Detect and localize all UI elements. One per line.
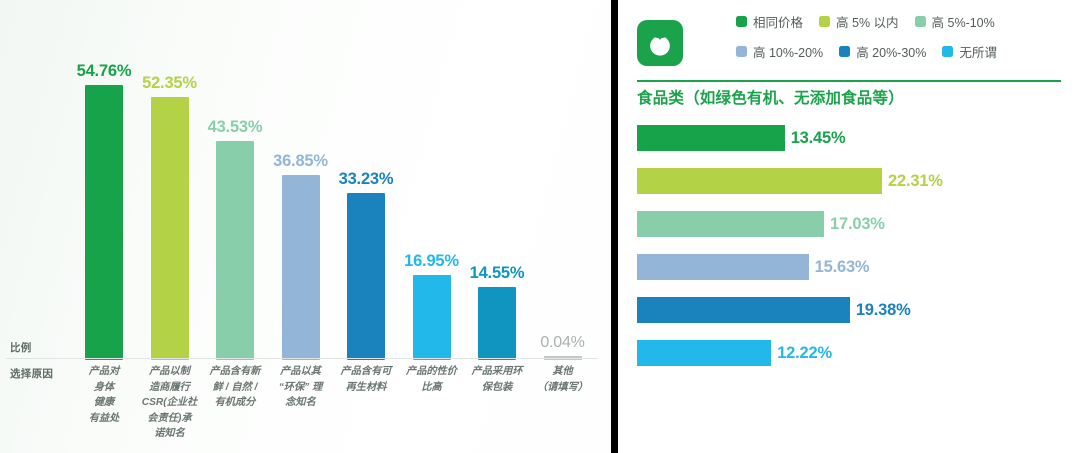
vertical-bar-column: 36.85%	[270, 0, 332, 360]
bar-value-label: 19.38%	[856, 301, 911, 320]
bar-value-label: 54.76%	[77, 62, 132, 81]
bar-value-label: 0.04%	[540, 334, 584, 352]
legend-label: 无所谓	[959, 42, 997, 61]
category-axis-label-line: CSR(企业社	[133, 395, 207, 411]
vertical-bar[interactable]	[478, 287, 516, 360]
category-axis-label-line: 有机成分	[198, 395, 272, 411]
horizontal-bar-row: 19.38%	[637, 297, 911, 323]
tomato-icon	[637, 20, 683, 66]
legend-item[interactable]: 高 5% 以内	[819, 6, 899, 36]
vertical-bar-column: 52.35%	[139, 0, 201, 360]
vertical-bar-column: 33.23%	[335, 0, 397, 360]
category-axis-label-line: 其他	[526, 364, 600, 380]
category-axis-label-line: 产品以制	[133, 364, 207, 380]
legend-label: 高 5%-10%	[932, 12, 995, 31]
horizontal-bar-chart-panel: 相同价格高 5% 以内高 5%-10%高 10%-20%高 20%-30%无所谓…	[618, 0, 1080, 453]
bar-value-label: 22.31%	[888, 172, 943, 191]
vertical-bar[interactable]	[413, 275, 451, 360]
horizontal-bar-row: 15.63%	[637, 254, 869, 280]
vertical-bar-column: 16.95%	[401, 0, 463, 360]
category-axis-label: 产品采用环保包装	[460, 364, 534, 395]
vertical-bar[interactable]	[151, 97, 189, 360]
vertical-bar-column: 14.55%	[466, 0, 528, 360]
category-axis-label-line: 身体	[67, 380, 141, 396]
bar-value-label: 36.85%	[273, 152, 328, 171]
survey-chart-page: 54.76%52.35%43.53%36.85%33.23%16.95%14.5…	[0, 0, 1080, 453]
legend-item[interactable]: 高 5%-10%	[915, 6, 995, 36]
horizontal-bar-plot-area: 13.45%22.31%17.03%15.63%19.38%12.22%	[637, 118, 1077, 448]
horizontal-bar[interactable]	[637, 125, 785, 151]
legend-label: 相同价格	[753, 12, 803, 31]
category-axis-label-line: 产品的性价	[395, 364, 469, 380]
category-axis-label: 其他（请填写）	[526, 364, 600, 395]
category-axis-label-line: 产品含有新	[198, 364, 272, 380]
vertical-bar-column: 43.53%	[204, 0, 266, 360]
category-axis-label-line: 产品采用环	[460, 364, 534, 380]
legend-label: 高 20%-30%	[856, 42, 926, 61]
legend-item[interactable]: 高 10%-20%	[736, 36, 823, 66]
category-axis-label-line: 念知名	[264, 395, 338, 411]
vertical-bar-plot-area: 54.76%52.35%43.53%36.85%33.23%16.95%14.5…	[0, 0, 611, 360]
horizontal-bar[interactable]	[637, 211, 824, 237]
bar-value-label: 14.55%	[470, 264, 525, 283]
category-axis-label-line: 健康	[67, 395, 141, 411]
legend-swatch	[839, 46, 850, 57]
category-axis-label-line: 会责任)承	[133, 411, 207, 427]
category-axis-label-line: 诺知名	[133, 426, 207, 442]
vertical-bar-column: 0.04%	[532, 0, 594, 360]
category-axis-label: 产品对身体健康有益处	[67, 364, 141, 426]
horizontal-bar[interactable]	[637, 168, 882, 194]
vertical-bar[interactable]	[216, 141, 254, 360]
category-axis-zone: 比例 选择原因 产品对身体健康有益处产品以制造商履行CSR(企业社会责任)承诺知…	[0, 358, 611, 453]
bar-value-label: 33.23%	[339, 170, 394, 189]
horizontal-bar[interactable]	[637, 340, 771, 366]
axis-baseline	[6, 358, 598, 359]
axis-row-label-ratio: 比例	[10, 340, 32, 355]
vertical-bar[interactable]	[282, 175, 320, 360]
category-axis-label-line: （请填写）	[526, 380, 600, 396]
horizontal-bar-row: 13.45%	[637, 125, 845, 151]
vertical-bar[interactable]	[85, 85, 123, 360]
category-axis-label-line: 比高	[395, 380, 469, 396]
horizontal-bar-row: 12.22%	[637, 340, 832, 366]
bar-value-label: 13.45%	[791, 129, 846, 148]
category-axis-label-line: 有益处	[67, 411, 141, 427]
category-axis-label-line: 产品含有可	[329, 364, 403, 380]
category-axis-label-line: 产品以其	[264, 364, 338, 380]
bar-value-label: 16.95%	[404, 252, 459, 271]
vertical-bar[interactable]	[347, 193, 385, 360]
bar-value-label: 15.63%	[815, 258, 870, 277]
bar-value-label: 43.53%	[208, 118, 263, 137]
legend: 相同价格高 5% 以内高 5%-10%高 10%-20%高 20%-30%无所谓	[618, 6, 1080, 66]
legend-item[interactable]: 高 20%-30%	[839, 36, 926, 66]
horizontal-bar[interactable]	[637, 297, 850, 323]
vertical-bar-column: 54.76%	[73, 0, 135, 360]
category-axis-label-line: 产品对	[67, 364, 141, 380]
legend-swatch	[819, 16, 830, 27]
category-axis-label-line: 再生材料	[329, 380, 403, 396]
bar-value-label: 52.35%	[142, 74, 197, 93]
category-axis-label-line: 保包装	[460, 380, 534, 396]
category-title: 食品类（如绿色有机、无添加食品等）	[637, 86, 1067, 108]
legend-item[interactable]: 相同价格	[736, 6, 803, 36]
legend-swatch	[915, 16, 926, 27]
horizontal-bar-row: 17.03%	[637, 211, 885, 237]
legend-item[interactable]: 无所谓	[942, 36, 997, 66]
vertical-bar-chart-panel: 54.76%52.35%43.53%36.85%33.23%16.95%14.5…	[0, 0, 611, 453]
panel-divider	[611, 0, 618, 453]
legend-label: 高 10%-20%	[753, 42, 823, 61]
category-axis-label: 产品以其“环保” 理念知名	[264, 364, 338, 411]
category-axis-label: 产品的性价比高	[395, 364, 469, 395]
category-axis-label-line: 造商履行	[133, 380, 207, 396]
category-axis-label: 产品以制造商履行CSR(企业社会责任)承诺知名	[133, 364, 207, 442]
axis-row-label-reason: 选择原因	[10, 366, 53, 381]
category-axis-label-line: “环保” 理	[264, 380, 338, 396]
bar-value-label: 17.03%	[830, 215, 885, 234]
category-title-rule	[637, 80, 1061, 82]
category-axis-label: 产品含有新鲜 / 自然 /有机成分	[198, 364, 272, 411]
legend-swatch	[942, 46, 953, 57]
category-axis-label: 产品含有可再生材料	[329, 364, 403, 395]
category-axis-label-line: 鲜 / 自然 /	[198, 380, 272, 396]
horizontal-bar-row: 22.31%	[637, 168, 943, 194]
bar-value-label: 12.22%	[777, 344, 832, 363]
legend-label: 高 5% 以内	[836, 12, 899, 31]
legend-swatch	[736, 46, 747, 57]
legend-swatch	[736, 16, 747, 27]
horizontal-bar[interactable]	[637, 254, 809, 280]
